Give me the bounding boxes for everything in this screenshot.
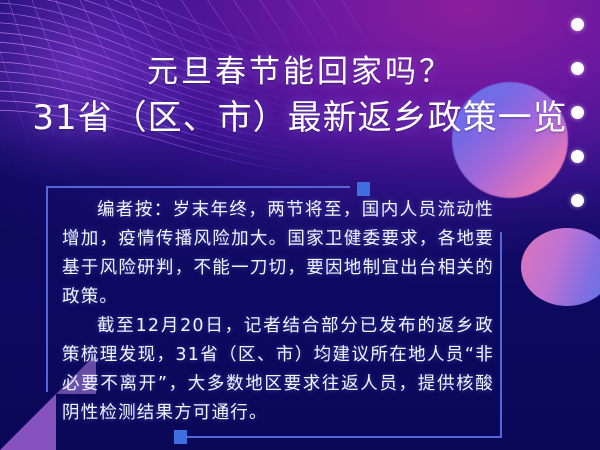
decorative-dot	[571, 150, 584, 163]
frame-edge-left	[46, 186, 48, 392]
title-block: 元旦春节能回家吗？ 31省（区、市）最新返乡政策一览	[0, 50, 600, 142]
article-body: 编者按：岁末年终，两节将至，国内人员流动性增加，疫情传播风险加大。国家卫健委要求…	[62, 196, 494, 428]
decorative-dot	[571, 194, 584, 207]
decorative-dot	[571, 18, 584, 31]
poster-canvas: 元旦春节能回家吗？ 31省（区、市）最新返乡政策一览 编者按：岁末年终，两节将至…	[0, 0, 600, 450]
frame-edge-bottom	[176, 436, 502, 438]
poster-title-primary: 元旦春节能回家吗？	[0, 50, 600, 94]
accent-square-top	[357, 182, 370, 196]
article-paragraph-2: 截至12月20日，记者结合部分已发布的返乡政策梳理发现，31省（区、市）均建议所…	[62, 312, 494, 428]
poster-title-secondary: 31省（区、市）最新返乡政策一览	[0, 94, 600, 142]
accent-square-bottom	[174, 430, 187, 444]
frame-edge-top	[46, 186, 350, 188]
frame-edge-right	[500, 232, 502, 438]
article-paragraph-1: 编者按：岁末年终，两节将至，国内人员流动性增加，疫情传播风险加大。国家卫健委要求…	[62, 196, 494, 312]
